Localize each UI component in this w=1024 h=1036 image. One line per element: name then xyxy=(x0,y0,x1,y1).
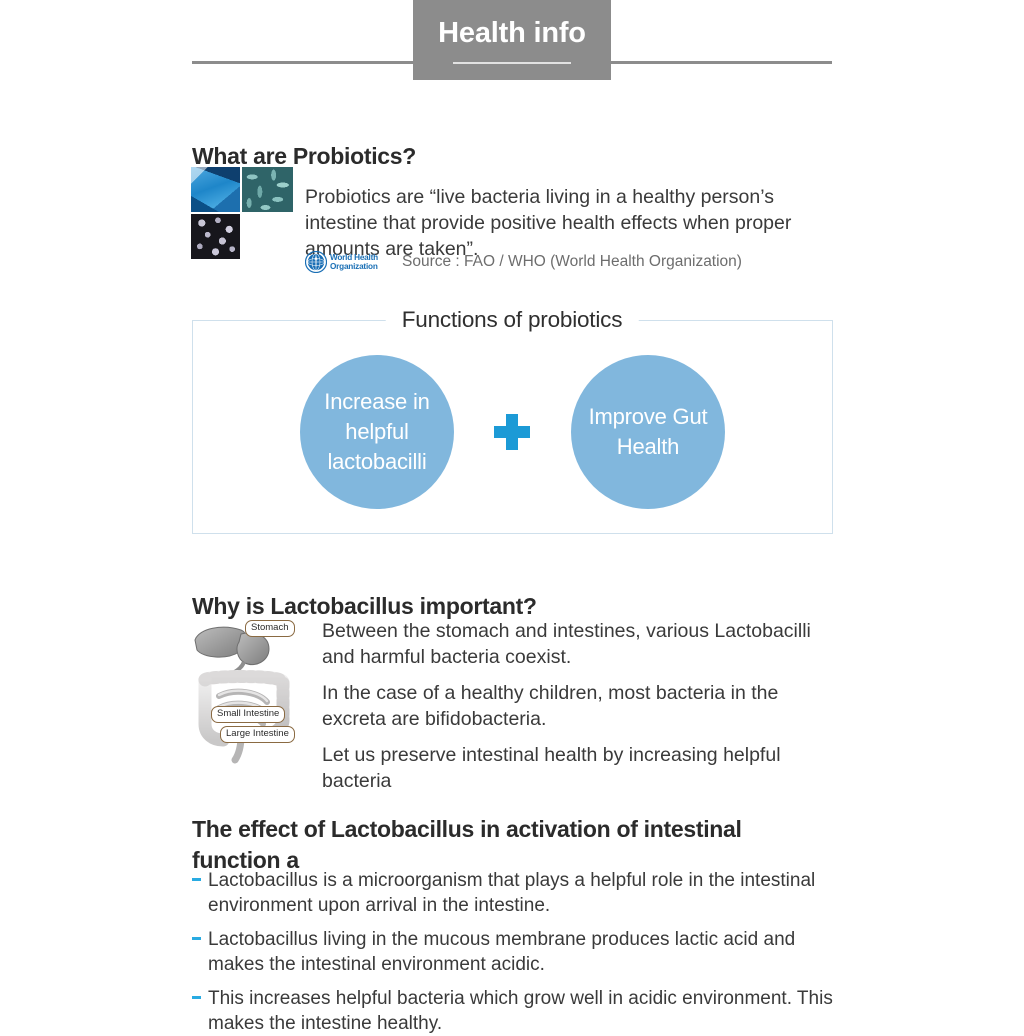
dash-bullet-icon xyxy=(192,878,201,881)
lactobacillus-body: Between the stomach and intestines, vari… xyxy=(322,618,837,794)
page-header: Health info xyxy=(0,0,1024,95)
diagram-label-stomach: Stomach xyxy=(245,620,295,637)
diagram-label-small-intestine: Small Intestine xyxy=(211,706,285,723)
lactobacillus-paragraph: Let us preserve intestinal health by inc… xyxy=(322,742,837,794)
who-emblem-icon xyxy=(305,251,327,273)
plus-icon xyxy=(494,414,530,450)
header-tab-underline xyxy=(453,62,571,64)
bacteria-thumbnail-group xyxy=(191,167,293,261)
lactobacillus-paragraph: In the case of a healthy children, most … xyxy=(322,680,837,732)
dash-bullet-icon xyxy=(192,937,201,940)
function-circle-left-label: Increase in helpful lactobacilli xyxy=(300,387,454,477)
bacteria-crystal-micrograph-icon xyxy=(191,167,240,212)
bacteria-cocci-micrograph-icon xyxy=(191,214,240,259)
effects-heading: The effect of Lactobacillus in activatio… xyxy=(192,814,822,876)
header-tab-title: Health info xyxy=(438,17,586,50)
function-circle-increase-lactobacilli: Increase in helpful lactobacilli xyxy=(300,355,454,509)
digestive-system-diagram: Stomach Small Intestine Large Intestine xyxy=(189,616,307,764)
who-logo-line-1: World Health xyxy=(330,253,378,262)
source-attribution-row: World Health Organization Source : FAO /… xyxy=(305,250,742,274)
diagram-label-large-intestine: Large Intestine xyxy=(220,726,295,743)
function-circle-improve-gut-health: Improve Gut Health xyxy=(571,355,725,509)
list-item: Lactobacillus is a microorganism that pl… xyxy=(192,868,837,918)
who-logo-line-2: Organization xyxy=(330,262,378,271)
bacteria-rods-micrograph-icon xyxy=(242,167,293,212)
list-item-text: Lactobacillus is a microorganism that pl… xyxy=(208,870,815,916)
list-item: This increases helpful bacteria which gr… xyxy=(192,986,837,1036)
health-info-tab[interactable]: Health info xyxy=(413,0,611,80)
effects-bullet-list: Lactobacillus is a microorganism that pl… xyxy=(192,868,837,1036)
dash-bullet-icon xyxy=(192,996,201,999)
who-logo-text: World Health Organization xyxy=(330,253,378,272)
who-logo: World Health Organization xyxy=(305,250,393,274)
list-item: Lactobacillus living in the mucous membr… xyxy=(192,927,837,977)
list-item-text: This increases helpful bacteria which gr… xyxy=(208,988,833,1034)
list-item-text: Lactobacillus living in the mucous membr… xyxy=(208,929,795,975)
source-text: Source : FAO / WHO (World Health Organiz… xyxy=(402,253,742,271)
lactobacillus-paragraph: Between the stomach and intestines, vari… xyxy=(322,618,837,670)
functions-box-legend: Functions of probiotics xyxy=(386,305,639,335)
function-circle-right-label: Improve Gut Health xyxy=(571,402,725,462)
